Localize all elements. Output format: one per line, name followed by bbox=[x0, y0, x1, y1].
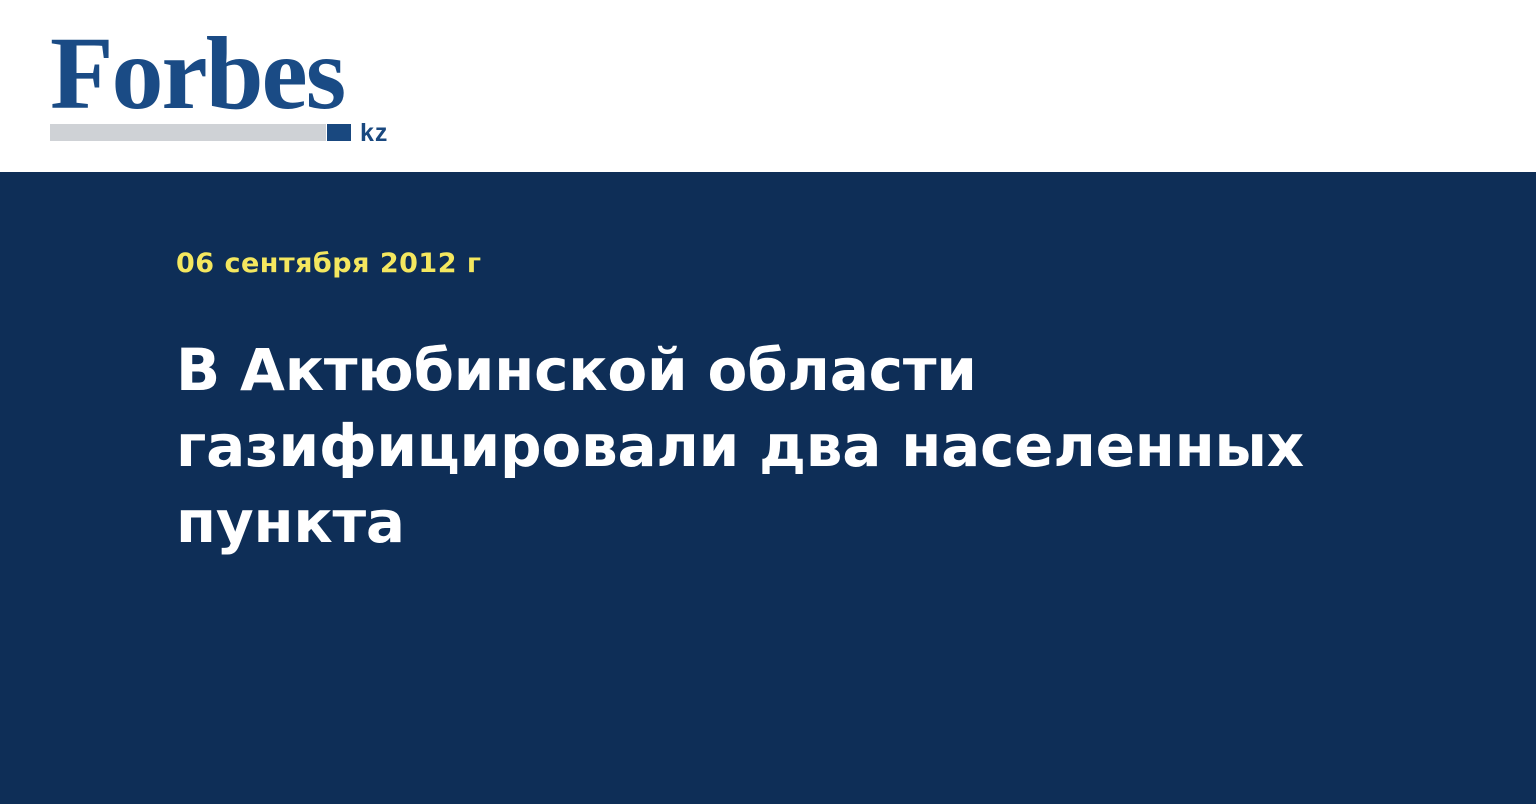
article-publish-date: 06 сентября 2012 г bbox=[176, 248, 1436, 280]
logo-kz-suffix: kz bbox=[360, 121, 388, 146]
article-hero: 06 сентября 2012 г В Актюбинской области… bbox=[0, 172, 1536, 804]
forbes-kz-logo[interactable]: Forbes kz bbox=[50, 22, 410, 147]
logo-square-mark bbox=[327, 124, 351, 141]
article-page: Forbes kz 06 сентября 2012 г В Актюбинск… bbox=[0, 0, 1536, 804]
article-headline: В Актюбинской области газифицировали два… bbox=[176, 332, 1376, 560]
logo-wordmark-text: Forbes bbox=[50, 22, 344, 126]
site-header: Forbes kz bbox=[0, 0, 1536, 172]
logo-rule-bar bbox=[50, 124, 326, 141]
article-hero-content: 06 сентября 2012 г В Актюбинской области… bbox=[176, 248, 1436, 560]
